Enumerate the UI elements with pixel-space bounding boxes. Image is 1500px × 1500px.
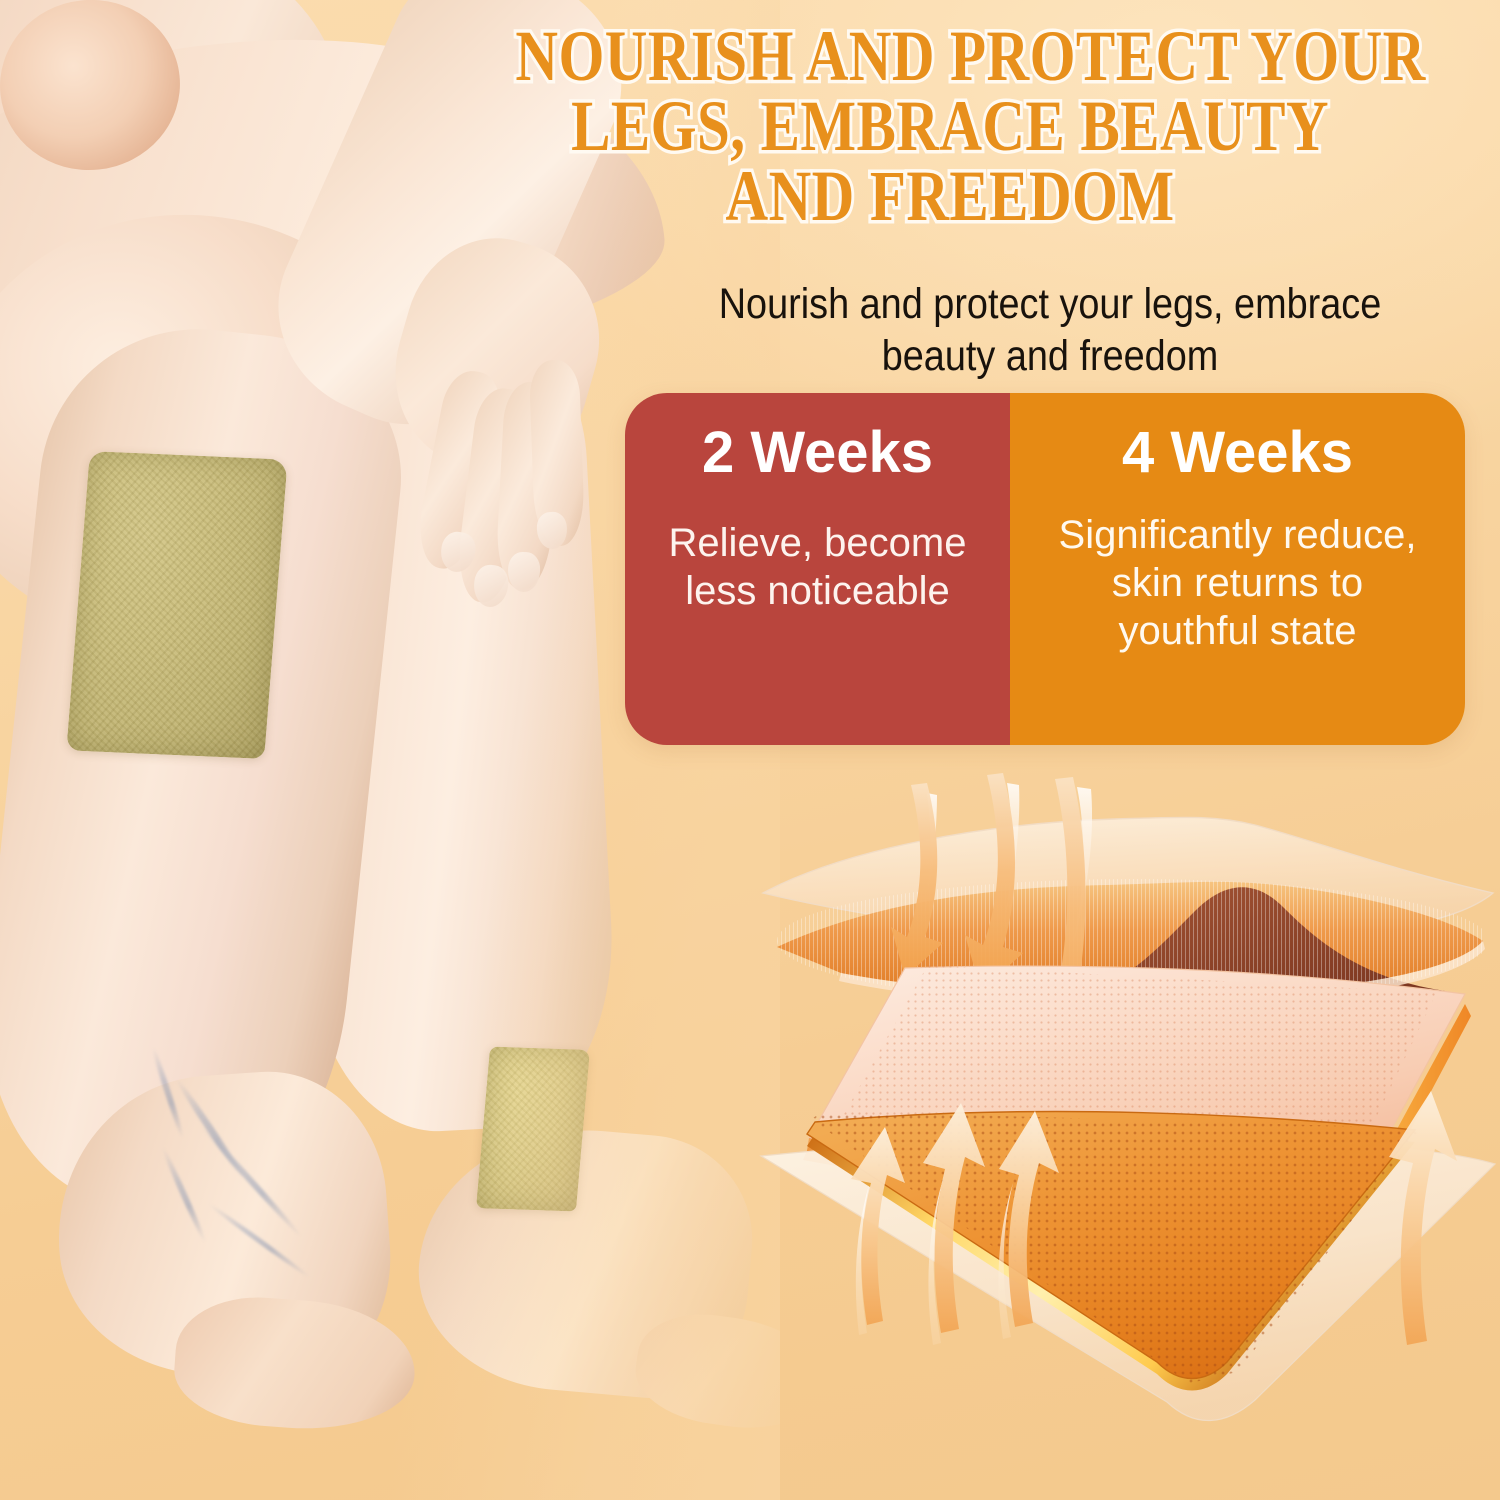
heat-release-arrow-up bbox=[999, 1111, 1059, 1327]
results-timeline-card: 2 Weeks Relieve, become less noticeable … bbox=[625, 393, 1465, 745]
heat-release-arrow-up bbox=[1389, 1091, 1457, 1345]
patch-layer-diagram bbox=[755, 775, 1500, 1455]
panel-4-weeks-body-line-3: youthful state bbox=[1059, 607, 1417, 655]
panel-4-weeks-body-line-2: skin returns to bbox=[1059, 559, 1417, 607]
subtitle-line-2: beauty and freedom bbox=[654, 330, 1446, 382]
panel-2-weeks-title: 2 Weeks bbox=[702, 423, 933, 483]
page-title: NOURISH AND PROTECT YOUR LEGS, EMBRACE B… bbox=[515, 22, 1384, 231]
panel-4-weeks: 4 Weeks Significantly reduce, skin retur… bbox=[1010, 393, 1465, 745]
panel-2-weeks-body: Relieve, become less noticeable bbox=[669, 519, 967, 615]
panel-4-weeks-body-line-1: Significantly reduce, bbox=[1059, 511, 1417, 559]
ankle-patch bbox=[476, 1046, 590, 1211]
headline-line-3: AND FREEDOM bbox=[515, 162, 1384, 232]
panel-2-weeks-body-line-1: Relieve, become bbox=[669, 519, 967, 567]
panel-2-weeks-body-line-2: less noticeable bbox=[669, 567, 967, 615]
headline-line-1: NOURISH AND PROTECT YOUR bbox=[515, 22, 1384, 92]
page-subtitle: Nourish and protect your legs, embrace b… bbox=[654, 278, 1446, 383]
panel-2-weeks: 2 Weeks Relieve, become less noticeable bbox=[625, 393, 1010, 745]
product-infographic-poster: NOURISH AND PROTECT YOUR LEGS, EMBRACE B… bbox=[0, 0, 1500, 1500]
panel-4-weeks-title: 4 Weeks bbox=[1122, 423, 1353, 483]
panel-4-weeks-body: Significantly reduce, skin returns to yo… bbox=[1059, 511, 1417, 655]
subtitle-line-1: Nourish and protect your legs, embrace bbox=[654, 278, 1446, 330]
left-toes-shape bbox=[171, 1292, 419, 1436]
upward-arrow-group bbox=[755, 1075, 1500, 1495]
headline-line-2: LEGS, EMBRACE BEAUTY bbox=[515, 92, 1384, 162]
calf-patch bbox=[66, 451, 287, 759]
